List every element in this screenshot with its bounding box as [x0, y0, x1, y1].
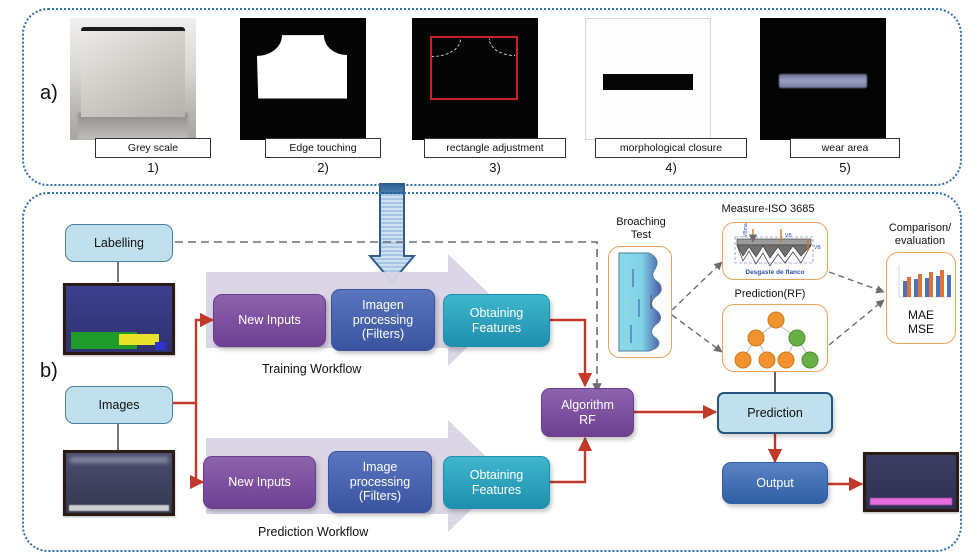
- images-label: Images: [99, 398, 140, 413]
- prediction-obtaining-features-line1: Obtaining: [470, 468, 524, 483]
- prediction-rf-title: Prediction(RF): [714, 288, 826, 301]
- comparison-evaluation-card: MAE MSE: [886, 252, 956, 344]
- comparison-metric-mae: MAE: [887, 309, 955, 323]
- prediction-label: Prediction: [747, 406, 803, 421]
- prediction-workflow-label: Prediction Workflow: [258, 525, 368, 539]
- prediction-image-processing-box[interactable]: Image processing (Filters): [328, 451, 432, 513]
- algorithm-rf-line1: Algorithm: [561, 398, 614, 413]
- svg-text:VB: VB: [785, 233, 792, 239]
- output-image-thumbnail: [863, 452, 959, 512]
- output-box[interactable]: Output: [722, 462, 828, 504]
- labelled-image-thumbnail: [63, 283, 175, 355]
- comparison-metric-mse: MSE: [887, 323, 955, 337]
- prediction-image-processing-line1: Image: [363, 460, 398, 475]
- training-workflow-label: Training Workflow: [262, 362, 361, 376]
- algorithm-rf-box[interactable]: Algorithm RF: [541, 388, 634, 437]
- prediction-box[interactable]: Prediction: [717, 392, 833, 434]
- prediction-rf-card: [722, 304, 828, 372]
- svg-text:VBmax: VBmax: [743, 222, 749, 237]
- training-obtaining-features-line2: Features: [472, 321, 521, 336]
- measure-iso-card: VBmax VB VB Desgaste de flanco: [722, 222, 828, 280]
- training-obtaining-features-line1: Obtaining: [470, 306, 524, 321]
- training-image-processing-line2: processing: [353, 313, 413, 328]
- raw-image-thumbnail: [63, 450, 175, 516]
- prediction-obtaining-features-line2: Features: [472, 483, 521, 498]
- output-label: Output: [756, 476, 794, 491]
- training-image-processing-line3: (Filters): [362, 327, 404, 342]
- comparison-line2: evaluation: [872, 235, 968, 248]
- labelling-label: Labelling: [94, 236, 144, 251]
- comparison-line1: Comparison/: [872, 222, 968, 235]
- algorithm-rf-line2: RF: [579, 413, 596, 428]
- training-image-processing-box[interactable]: Imagen processing (Filters): [331, 289, 435, 351]
- prediction-image-processing-line3: (Filters): [359, 489, 401, 504]
- prediction-new-inputs-label: New Inputs: [228, 475, 291, 490]
- training-obtaining-features-box[interactable]: Obtaining Features: [443, 294, 550, 347]
- measure-iso-caption: Desgaste de flanco: [723, 269, 827, 276]
- measure-iso-title: Measure-ISO 3685: [706, 203, 830, 216]
- training-new-inputs-box[interactable]: New Inputs: [213, 294, 326, 347]
- prediction-new-inputs-box[interactable]: New Inputs: [203, 456, 316, 509]
- labelling-box[interactable]: Labelling: [65, 224, 173, 262]
- prediction-image-processing-line2: processing: [350, 475, 410, 490]
- broaching-test-line2: Test: [600, 229, 682, 242]
- broaching-test-card: [608, 246, 672, 358]
- comparison-title: Comparison/ evaluation: [872, 222, 968, 248]
- broaching-test-title: Broaching Test: [600, 216, 682, 242]
- svg-text:VB: VB: [814, 245, 821, 251]
- broaching-test-line1: Broaching: [600, 216, 682, 229]
- training-new-inputs-label: New Inputs: [238, 313, 301, 328]
- images-box[interactable]: Images: [65, 386, 173, 424]
- prediction-obtaining-features-box[interactable]: Obtaining Features: [443, 456, 550, 509]
- training-image-processing-line1: Imagen: [362, 298, 404, 313]
